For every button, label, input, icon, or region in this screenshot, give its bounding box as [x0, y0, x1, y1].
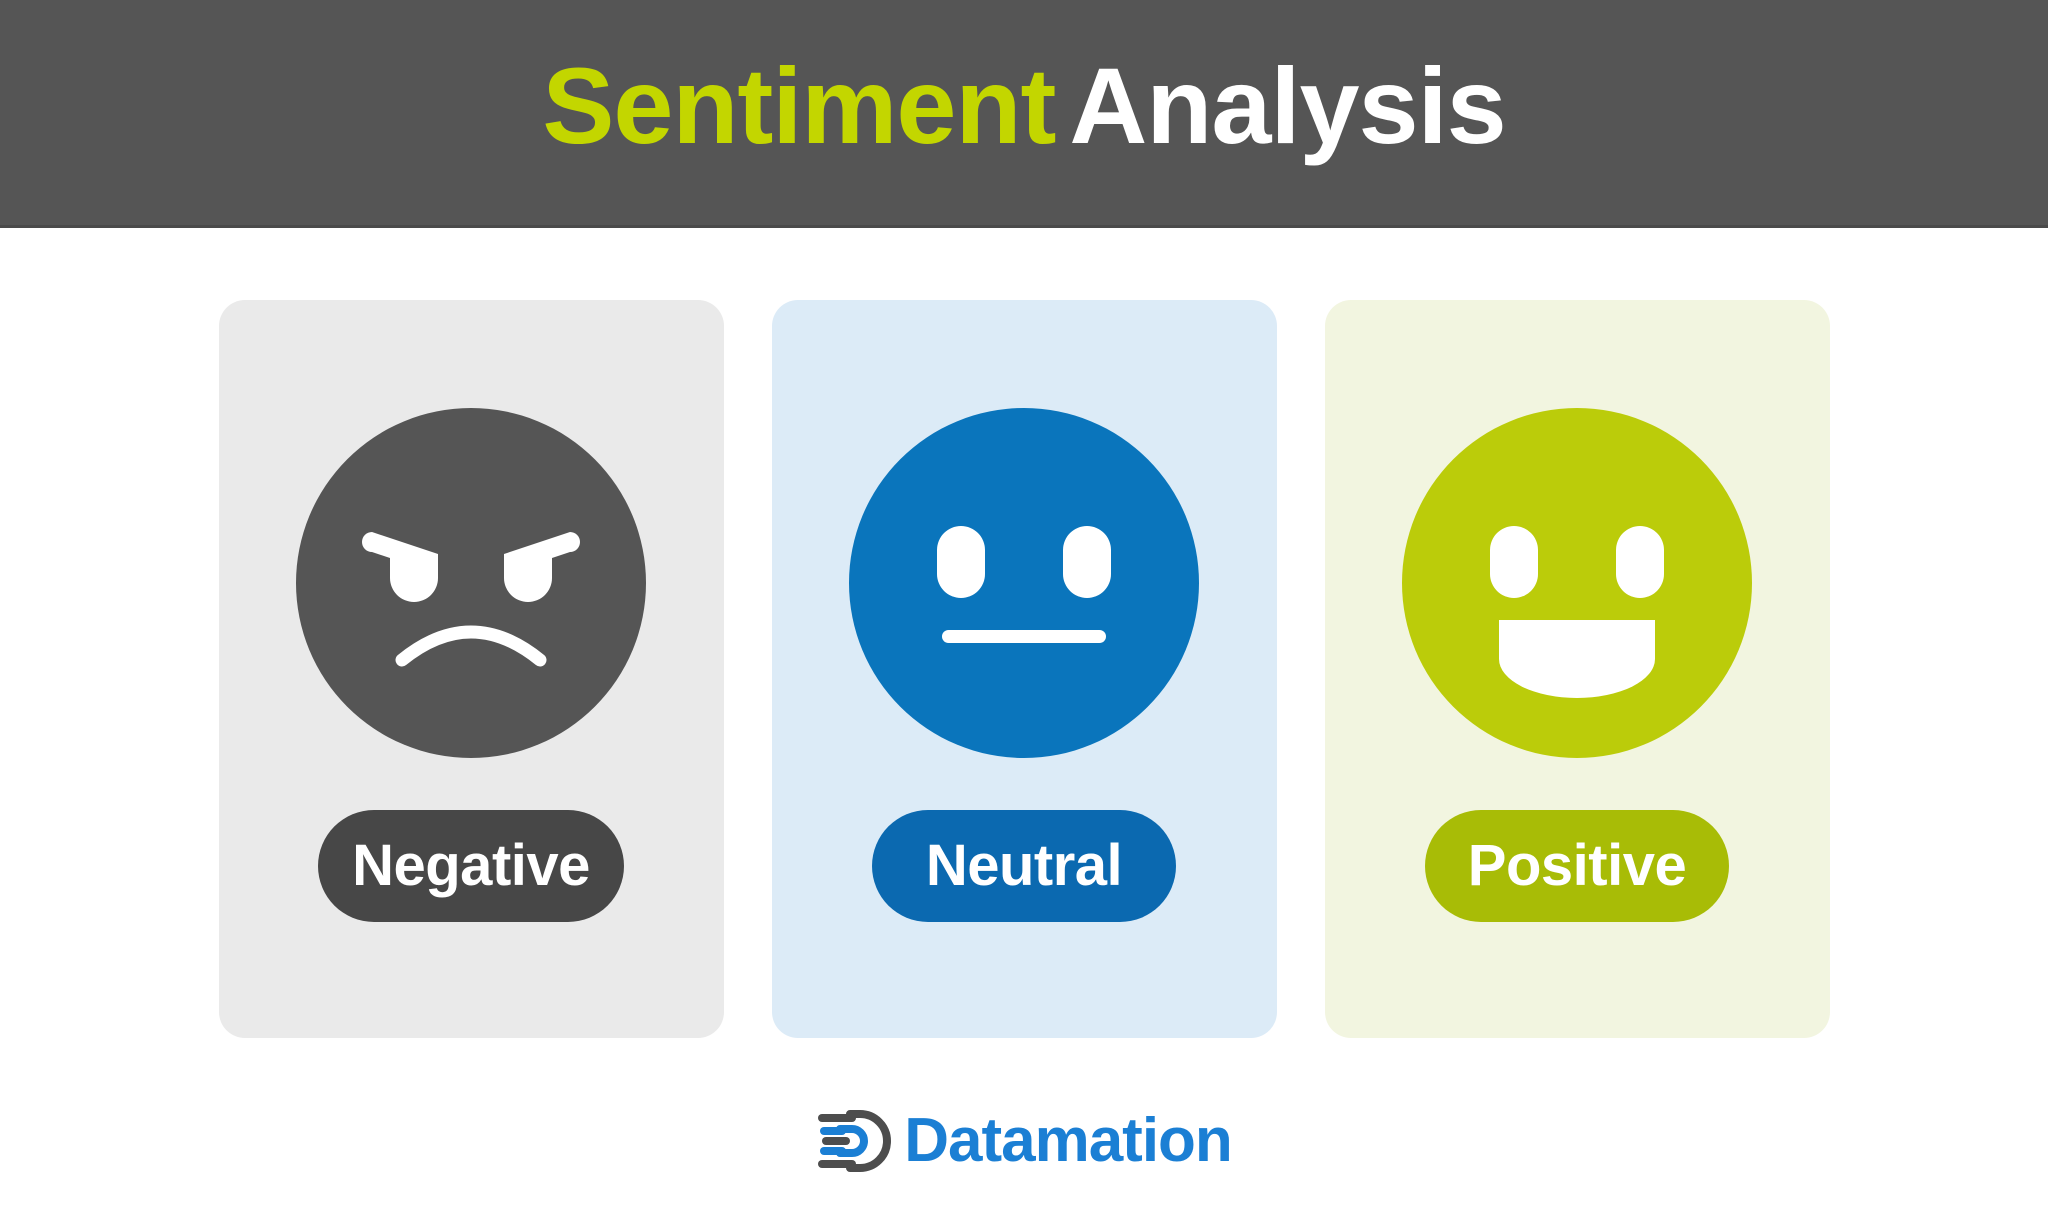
angry-face-features-icon — [296, 408, 646, 758]
sentiment-card-neutral[interactable]: Neutral — [772, 300, 1277, 1038]
sentiment-pill-neutral[interactable]: Neutral — [872, 810, 1176, 922]
sentiment-card-negative[interactable]: Negative — [219, 300, 724, 1038]
smiling-face-icon — [1402, 408, 1752, 758]
sentiment-cards-row: Negative Neutral Positive — [0, 300, 2048, 1038]
smiling-eye-right-icon — [1616, 526, 1664, 598]
sentiment-pill-negative[interactable]: Negative — [318, 810, 624, 922]
footer-brand: Datamation — [0, 1108, 2048, 1174]
smiling-eye-left-icon — [1490, 526, 1538, 598]
header-bar: SentimentAnalysis — [0, 0, 2048, 228]
sentiment-pill-label-positive: Positive — [1468, 837, 1686, 895]
smiling-mouth-icon — [1499, 620, 1655, 698]
infographic-page: SentimentAnalysis Negative — [0, 0, 2048, 1232]
page-title-plain: Analysis — [1069, 45, 1505, 166]
neutral-eye-left-icon — [937, 526, 985, 598]
sentiment-pill-positive[interactable]: Positive — [1425, 810, 1729, 922]
page-title-accent: Sentiment — [542, 45, 1055, 166]
angry-face-icon — [296, 408, 646, 758]
neutral-mouth-icon — [942, 630, 1106, 643]
neutral-eye-right-icon — [1063, 526, 1111, 598]
sentiment-pill-label-neutral: Neutral — [926, 837, 1122, 895]
page-title: SentimentAnalysis — [542, 52, 1505, 174]
datamation-logo-icon — [816, 1108, 894, 1174]
neutral-face-icon — [849, 408, 1199, 758]
sentiment-pill-label-negative: Negative — [352, 837, 590, 895]
sentiment-card-positive[interactable]: Positive — [1325, 300, 1830, 1038]
datamation-wordmark: Datamation — [904, 1110, 1232, 1172]
